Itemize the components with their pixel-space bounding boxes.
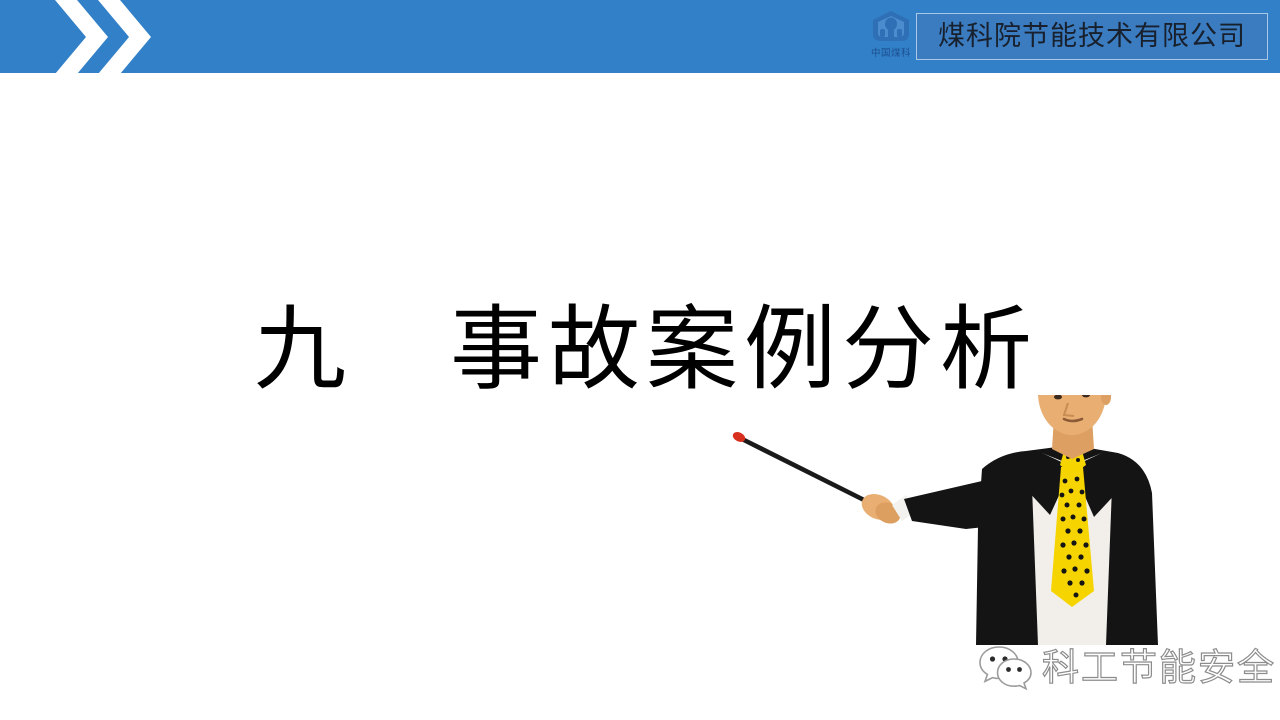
chevron-right-icon [89, 0, 151, 73]
title-area: 九 事故案例分析 [0, 300, 1280, 400]
company-name-box: 煤科院节能技术有限公司 [916, 13, 1268, 60]
chevron-decoration-group [46, 0, 176, 73]
slide-title: 九 事故案例分析 [242, 300, 1038, 400]
wechat-icon [978, 645, 1036, 691]
company-name-label: 煤科院节能技术有限公司 [938, 23, 1246, 50]
wechat-watermark: 科工节能安全 [978, 640, 1278, 696]
watermark-label: 科工节能安全 [1042, 648, 1276, 688]
header-bar: 中国煤科 煤科院节能技术有限公司 [0, 0, 1280, 73]
head [1038, 395, 1112, 435]
presenter-figure [720, 395, 1170, 655]
slide-canvas: 中国煤科 煤科院节能技术有限公司 九 事故案例分析 [0, 0, 1280, 720]
china-coal-emblem-icon [868, 29, 914, 46]
pointer-stick [731, 430, 866, 501]
